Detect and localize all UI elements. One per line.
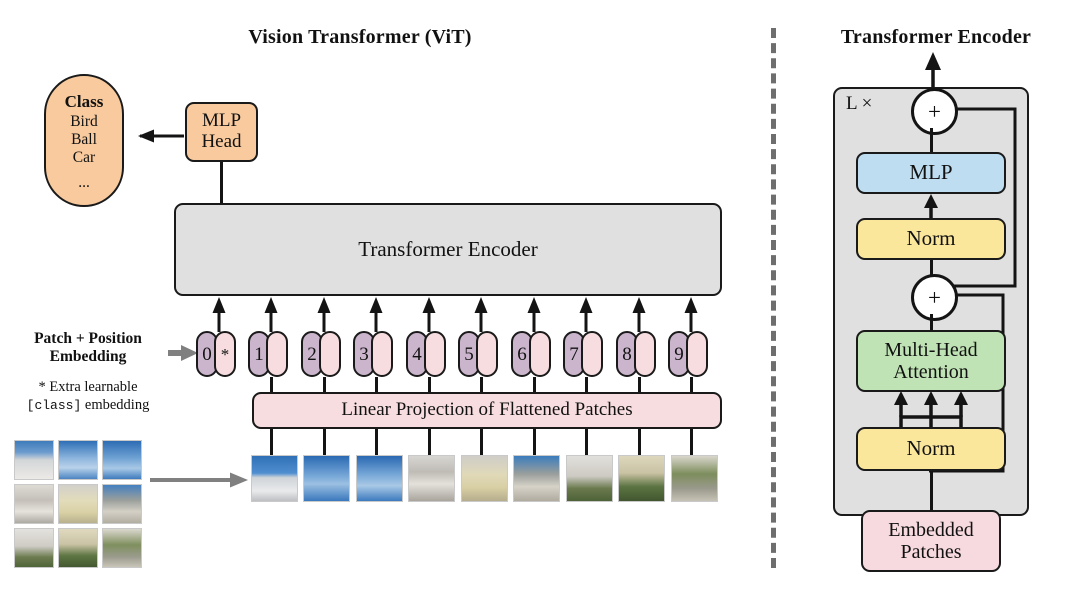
attention-label-line1: Multi-Head (884, 339, 977, 361)
extra-learnable-note: * Extra learnable [class] embedding (8, 378, 168, 414)
class-item: Ball (71, 131, 97, 149)
residual-add-top: + (911, 88, 958, 135)
norm-block-top: Norm (856, 218, 1006, 260)
source-grid-cell (102, 484, 142, 524)
transformer-encoder-box: Transformer Encoder (174, 203, 722, 296)
source-grid-cell (14, 484, 54, 524)
image-patch (671, 455, 718, 502)
class-output-box: Class Bird Ball Car ... (44, 74, 124, 207)
image-patch (356, 455, 403, 502)
mlp-head-connector-line (220, 162, 223, 204)
norm-top-label: Norm (907, 227, 956, 250)
norm-top-to-add-line (930, 260, 933, 275)
norm-to-mlp-arrow (920, 194, 944, 218)
token-number: 7 (569, 345, 579, 364)
source-grid-cell (58, 484, 98, 524)
token-number: 8 (622, 345, 632, 364)
patch-embedding-pill (529, 331, 551, 377)
plus-symbol: + (928, 286, 941, 309)
source-grid-cell (58, 528, 98, 568)
panel-divider (771, 28, 776, 568)
token-number: 3 (359, 345, 369, 364)
token-number: 5 (464, 345, 474, 364)
patch-embedding-pill (319, 331, 341, 377)
token-number: 9 (674, 345, 684, 364)
embedded-patches-line1: Embedded (888, 519, 974, 541)
patch-embedding-pill (424, 331, 446, 377)
patch-embedding-pill (581, 331, 603, 377)
mlp-head-line2: Head (201, 132, 241, 153)
image-patch (251, 455, 298, 502)
extra-learnable-note-line2: [class] embedding (8, 396, 168, 414)
mlp-head-line1: MLP (202, 111, 241, 132)
transformer-encoder-label: Transformer Encoder (358, 238, 537, 261)
class-item-ellipsis: ... (78, 175, 90, 191)
token-number: 4 (412, 345, 422, 364)
class-token-rest: embedding (81, 397, 149, 413)
add-bottom-to-attention-line (930, 314, 933, 331)
linear-projection-label: Linear Projection of Flattened Patches (341, 400, 632, 421)
token-number: 2 (307, 345, 317, 364)
source-grid-cell (102, 440, 142, 480)
source-grid-cell (58, 440, 98, 480)
token-to-encoder-arrows (0, 296, 760, 332)
image-patch (408, 455, 455, 502)
patch-embedding-pill (634, 331, 656, 377)
embedded-patches-to-norm-line (930, 471, 933, 515)
mlp-block: MLP (856, 152, 1006, 194)
source-grid-cell (14, 528, 54, 568)
image-patch (566, 455, 613, 502)
qkv-branch-arrows (856, 391, 1006, 427)
patch-embedding-pill (686, 331, 708, 377)
norm-block-bottom: Norm (856, 427, 1006, 471)
class-token-marker: * (221, 346, 230, 363)
patch-embedding-pill (371, 331, 393, 377)
left-panel-title: Vision Transformer (ViT) (170, 26, 550, 49)
token-number: 6 (517, 345, 527, 364)
class-item: Car (73, 149, 95, 167)
mlp-head-to-class-arrow (120, 128, 186, 144)
image-patch (461, 455, 508, 502)
source-grid-cell (14, 440, 54, 480)
class-token-pill: * (214, 331, 236, 377)
mlp-block-label: MLP (909, 161, 952, 184)
source-grid-to-patches-arrow (150, 471, 250, 489)
embedded-patches-block: Embedded Patches (861, 510, 1001, 572)
right-panel-title: Transformer Encoder (800, 26, 1072, 49)
encoder-output-arrow (920, 52, 946, 88)
patch-embedding-pill (476, 331, 498, 377)
multi-head-attention-block: Multi-Head Attention (856, 330, 1006, 392)
mlp-head-box: MLP Head (185, 102, 258, 162)
linear-projection-box: Linear Projection of Flattened Patches (252, 392, 722, 429)
source-grid-cell (102, 528, 142, 568)
residual-add-bottom: + (911, 274, 958, 321)
attention-label-line2: Attention (893, 361, 969, 383)
image-patch (618, 455, 665, 502)
class-box-heading: Class (65, 93, 104, 112)
token-sequence: 0 * 1 2 3 4 5 6 7 8 9 (0, 331, 760, 381)
class-token-mono: [class] (27, 398, 82, 413)
image-patch (303, 455, 350, 502)
norm-bottom-label: Norm (907, 437, 956, 460)
image-patch (513, 455, 560, 502)
plus-symbol: + (928, 100, 941, 123)
token-number: 0 (202, 345, 212, 364)
add-top-to-mlp-line (930, 128, 933, 154)
patch-embedding-pill (266, 331, 288, 377)
token-number: 1 (254, 345, 264, 364)
embedded-patches-line2: Patches (900, 541, 961, 563)
class-item: Bird (70, 113, 98, 131)
